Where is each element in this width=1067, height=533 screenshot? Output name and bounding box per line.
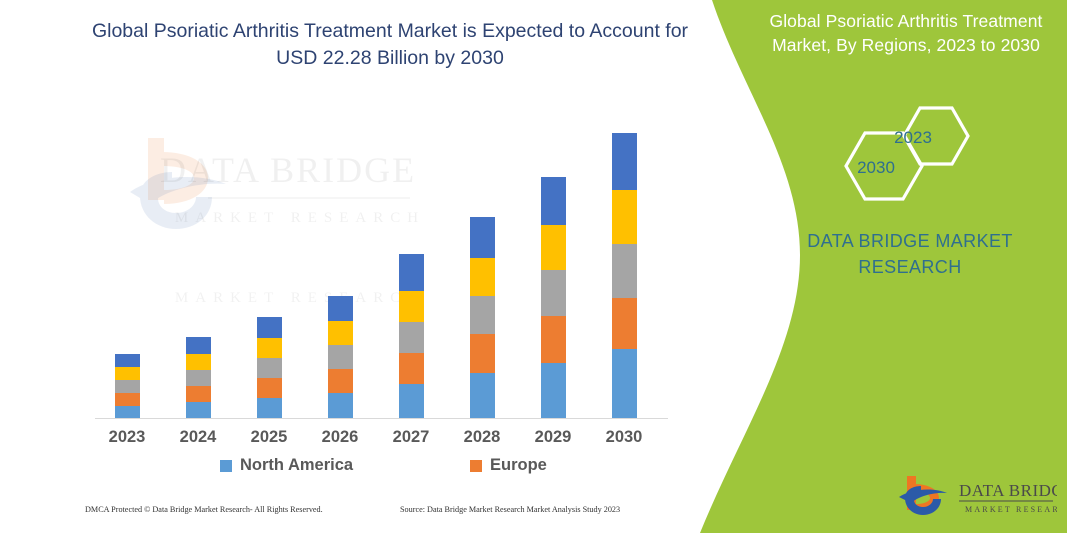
legend-swatch-icon [470,460,482,472]
dbmr-logo-mark [899,476,947,515]
bar-segment [115,367,140,380]
bar-segment [186,354,211,370]
bar-2025 [257,317,282,419]
bar-segment [257,398,282,419]
bar-segment [257,358,282,378]
hex-label-2023: 2023 [894,128,932,147]
bar-segment [328,345,353,369]
bar-segment [612,244,637,298]
bar-segment [541,177,566,225]
bar-segment [257,317,282,338]
bar-segment [328,393,353,419]
bar-2024 [186,337,211,419]
bar-segment [470,296,495,334]
x-axis-label-2027: 2027 [375,428,447,447]
legend-item-north-america[interactable]: North America [220,456,353,475]
bar-segment [612,349,637,419]
hexagon-group: 2023 2030 [820,95,990,205]
panel-title: Global Psoriatic Arthritis Treatment Mar… [752,10,1060,57]
bar-segment [541,225,566,270]
bar-2029 [541,177,566,419]
x-axis-label-2023: 2023 [91,428,163,447]
x-axis-label-2029: 2029 [517,428,589,447]
bar-segment [257,378,282,398]
bar-segment [399,322,424,353]
bar-segment [612,190,637,244]
bar-segment [186,337,211,354]
bar-segment [115,393,140,406]
bar-segment [186,402,211,419]
bar-segment [470,334,495,373]
bar-segment [541,316,566,363]
bar-2027 [399,254,424,419]
bar-segment [328,321,353,345]
bar-segment [115,354,140,367]
x-axis-line [95,418,668,419]
dbmr-logo-name: DATA BRIDGE [959,481,1057,500]
hex-label-2030: 2030 [857,158,895,177]
legend-item-europe[interactable]: Europe [470,456,547,475]
infographic-canvas: Global Psoriatic Arthritis Treatment Mar… [0,0,1067,533]
bar-segment [399,384,424,419]
bar-segment [186,370,211,386]
bar-segment [541,270,566,316]
bar-segment [257,338,282,358]
bar-segment [399,291,424,322]
legend-label: Europe [490,456,547,475]
panel-brand: DATA BRIDGE MARKET RESEARCH [780,228,1040,280]
bar-segment [470,373,495,419]
page-title: Global Psoriatic Arthritis Treatment Mar… [80,18,700,72]
x-axis-label-2030: 2030 [588,428,660,447]
panel-brand-line2: RESEARCH [780,254,1040,280]
bar-segment [470,258,495,296]
footer: DMCA Protected © Data Bridge Market Rese… [0,505,700,527]
bar-2023 [115,354,140,419]
legend-swatch-icon [220,460,232,472]
bar-segment [399,353,424,384]
bar-2030 [612,133,637,419]
legend-label: North America [240,456,353,475]
bar-2026 [328,296,353,419]
bar-segment [612,133,637,190]
x-axis-labels: 20232024202520262027202820292030 [95,428,675,452]
bar-segment [115,380,140,393]
x-axis-label-2028: 2028 [446,428,518,447]
bar-segment [612,298,637,349]
footer-copyright: DMCA Protected © Data Bridge Market Rese… [85,505,323,514]
x-axis-label-2026: 2026 [304,428,376,447]
chart-legend: North AmericaEurope [95,456,675,480]
bar-segment [470,217,495,258]
bar-segment [328,296,353,321]
bar-segment [541,363,566,419]
x-axis-label-2024: 2024 [162,428,234,447]
bar-2028 [470,217,495,419]
panel-brand-line1: DATA BRIDGE MARKET [780,228,1040,254]
bar-segment [186,386,211,402]
bar-segment [328,369,353,393]
bar-segment [399,254,424,291]
bar-chart-plot [95,120,675,419]
dbmr-logo-tagline: MARKET RESEARCH [965,505,1057,514]
x-axis-label-2025: 2025 [233,428,305,447]
dbmr-logo: DATA BRIDGE MARKET RESEARCH [895,470,1057,522]
footer-source: Source: Data Bridge Market Research Mark… [400,505,620,514]
